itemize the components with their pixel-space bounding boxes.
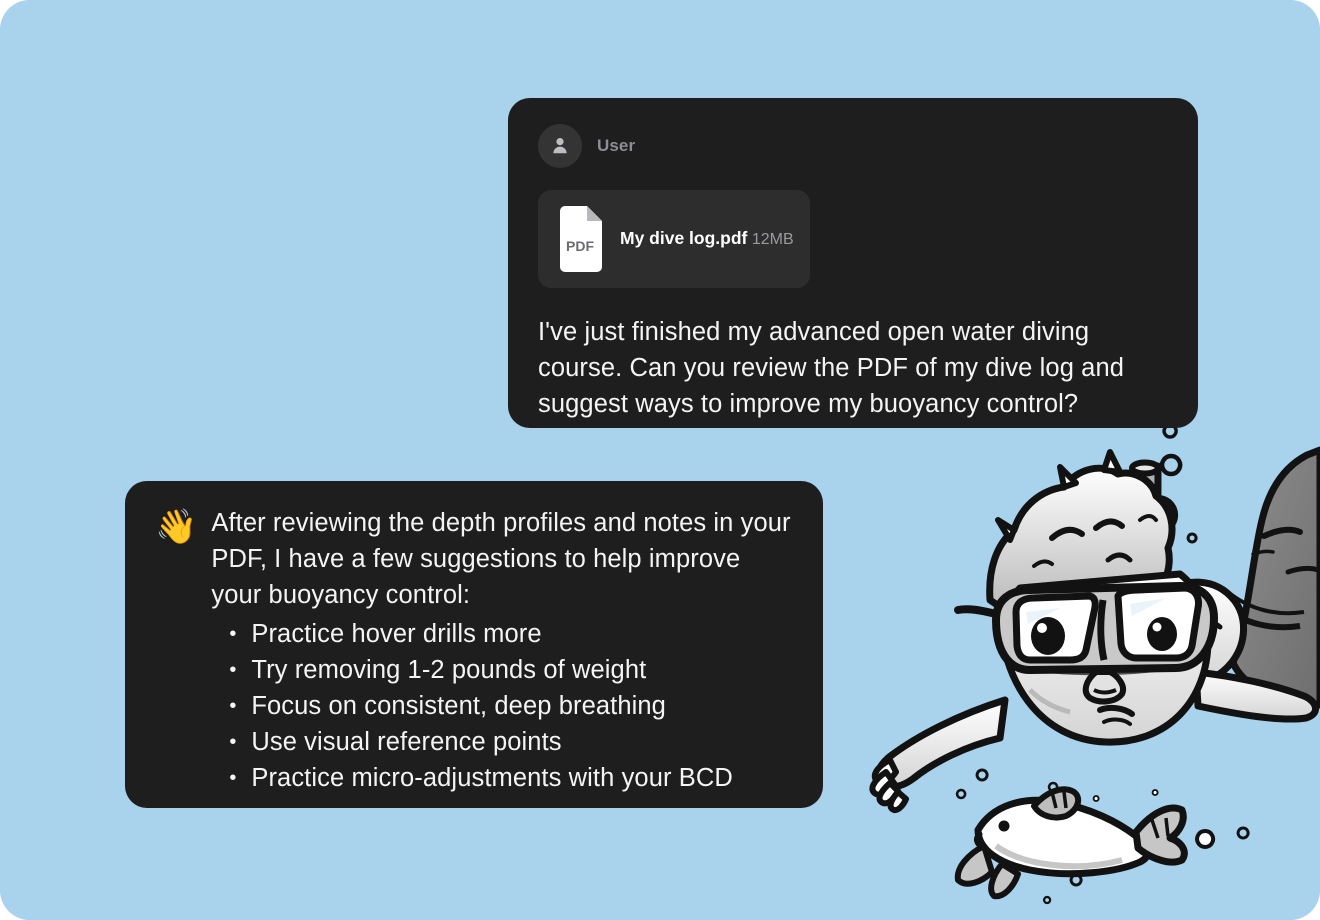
suggestion-item: Practice hover drills more xyxy=(211,616,797,652)
pdf-attachment-card[interactable]: PDF My dive log.pdf 12MB xyxy=(538,190,810,288)
assistant-message-bubble: 👋 After reviewing the depth profiles and… xyxy=(125,481,823,808)
suggestion-list: Practice hover drills moreTry removing 1… xyxy=(211,616,797,796)
user-message-text: I've just finished my advanced open wate… xyxy=(538,314,1170,422)
user-message-bubble: User PDF My dive log.pdf 12MB I've just … xyxy=(508,98,1198,428)
suggestion-item: Focus on consistent, deep breathing xyxy=(211,688,797,724)
assistant-message-body: 👋 After reviewing the depth profiles and… xyxy=(155,505,797,796)
attachment-file-size: 12MB xyxy=(752,231,794,248)
suggestion-item: Use visual reference points xyxy=(211,724,797,760)
assistant-intro-text: After reviewing the depth profiles and n… xyxy=(211,505,797,613)
chat-thread: User PDF My dive log.pdf 12MB I've just … xyxy=(0,0,1320,920)
pdf-icon-label: PDF xyxy=(566,238,594,254)
user-role-label: User xyxy=(597,136,635,156)
suggestion-item: Practice micro-adjustments with your BCD xyxy=(211,760,797,796)
user-header: User xyxy=(538,124,1170,168)
attachment-meta: My dive log.pdf 12MB xyxy=(620,228,794,250)
waving-hand-emoji: 👋 xyxy=(155,507,197,796)
app-canvas: User PDF My dive log.pdf 12MB I've just … xyxy=(0,0,1320,920)
pdf-file-icon: PDF xyxy=(556,206,606,272)
assistant-content-column: After reviewing the depth profiles and n… xyxy=(211,505,797,796)
attachment-file-name: My dive log.pdf xyxy=(620,228,747,248)
suggestion-item: Try removing 1-2 pounds of weight xyxy=(211,652,797,688)
person-icon xyxy=(538,124,582,168)
